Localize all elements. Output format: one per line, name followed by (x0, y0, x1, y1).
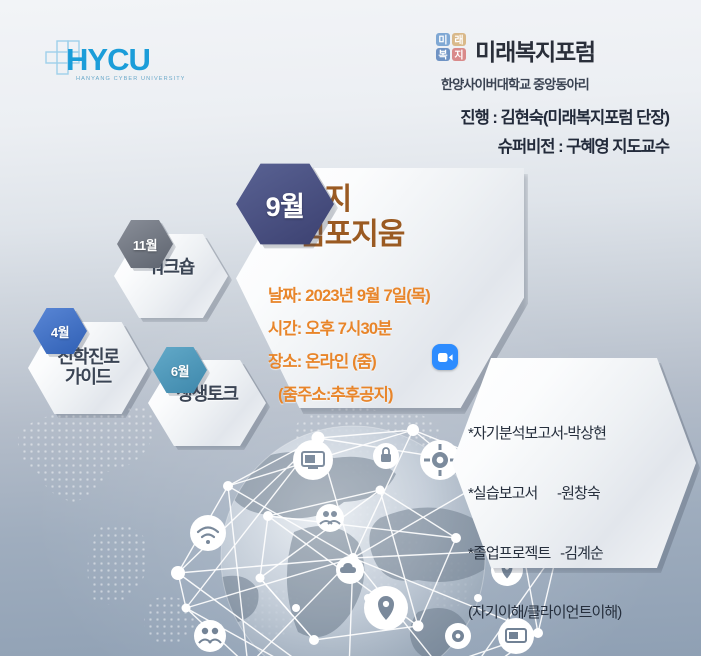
svg-text:HYCU: HYCU (66, 42, 150, 77)
lock-icon (373, 443, 399, 469)
list-item: *졸업프로젝트 -김계순 (468, 544, 683, 564)
program-label-career-guide: 진학진로 가이드 (28, 348, 148, 388)
hycu-logo-icon: HYCU HANYANG CYBER UNIVERSITY (44, 34, 184, 86)
event-host: 진행 : 김현숙(미래복지포럼 단장) (355, 104, 675, 128)
list-item: *자기분석보고서-박상현 (468, 424, 683, 444)
program-label-line2: 가이드 (65, 367, 111, 387)
event-date: 날짜: 2023년 9월 7일(목) (268, 282, 430, 306)
forum-name: 미래복지포럼 (475, 33, 595, 67)
event-zoom-notice: (줌주소:추후공지) (278, 381, 393, 405)
event-location: 장소: 온라인 (줌) (268, 348, 376, 372)
presentation-list: *자기분석보고서-박상현 *실습보고서 -원창숙 *졸업프로젝트 -김계순 (자… (468, 384, 683, 656)
cloud-icon (336, 556, 364, 584)
people-icon (194, 620, 226, 652)
people-icon (316, 504, 344, 532)
wifi-icon (190, 515, 226, 551)
monitor-icon (293, 440, 333, 480)
location-pin-icon (364, 586, 408, 630)
zoom-video-icon[interactable] (432, 344, 458, 370)
event-supervisor: 슈퍼비전 : 구혜영 지도교수 (355, 133, 675, 157)
list-item: (자기이해/클라이언트이해) (468, 603, 683, 623)
svg-text:지: 지 (455, 49, 464, 62)
event-time: 시간: 오후 7시30분 (268, 315, 392, 339)
svg-text:래: 래 (455, 34, 464, 47)
forum-header: 미 래 복 지 미래복지포럼 한양사이버대학교 중앙동아리 진행 : 김현숙(미… (355, 32, 675, 157)
event-poster: HYCU HANYANG CYBER UNIVERSITY 미 래 복 지 미래… (0, 0, 701, 656)
svg-text:복: 복 (439, 50, 448, 62)
list-item: *실습보고서 -원창숙 (468, 484, 683, 504)
forum-quadrant-logo-icon: 미 래 복 지 (435, 32, 467, 67)
forum-subtitle: 한양사이버대학교 중앙동아리 (355, 74, 675, 93)
svg-text:HANYANG CYBER UNIVERSITY: HANYANG CYBER UNIVERSITY (76, 76, 184, 82)
svg-text:미: 미 (439, 34, 448, 47)
